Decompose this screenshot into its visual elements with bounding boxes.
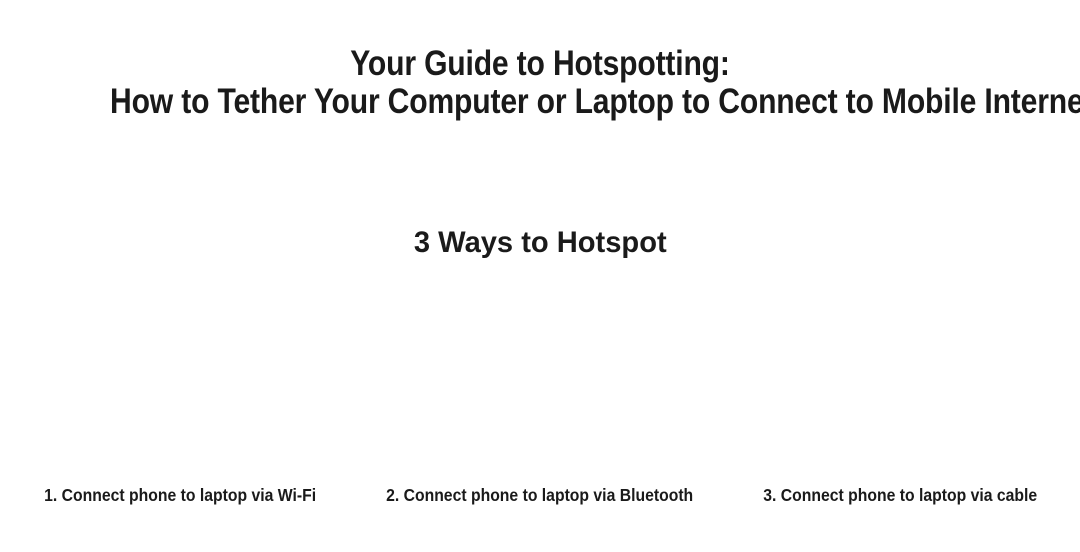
method-image-3: [720, 280, 1080, 476]
method-caption-1: 1. Connect phone to laptop via Wi-Fi: [0, 484, 360, 506]
article-page: Your Guide to Hotspotting: How to Tether…: [0, 0, 1080, 552]
page-title-line-2: How to Tether Your Computer or Laptop to…: [110, 83, 970, 121]
method-image-2: [360, 280, 720, 476]
method-image-1: [0, 280, 360, 476]
page-title-line-1: Your Guide to Hotspotting:: [110, 0, 970, 83]
section-heading: 3 Ways to Hotspot: [0, 226, 1080, 260]
method-caption-2-label: 2. Connect phone to laptop via Bluetooth: [386, 484, 693, 506]
method-caption-row: 1. Connect phone to laptop via Wi-Fi 2. …: [0, 484, 1080, 506]
method-caption-1-label: 1. Connect phone to laptop via Wi-Fi: [44, 484, 316, 506]
section-heading-label: 3 Ways to Hotspot: [414, 226, 667, 260]
page-title: Your Guide to Hotspotting: How to Tether…: [76, 0, 1005, 121]
method-caption-2: 2. Connect phone to laptop via Bluetooth: [360, 484, 720, 506]
method-caption-3: 3. Connect phone to laptop via cable: [720, 484, 1080, 506]
method-caption-3-label: 3. Connect phone to laptop via cable: [763, 484, 1037, 506]
infographic-image-region: [0, 280, 1080, 476]
